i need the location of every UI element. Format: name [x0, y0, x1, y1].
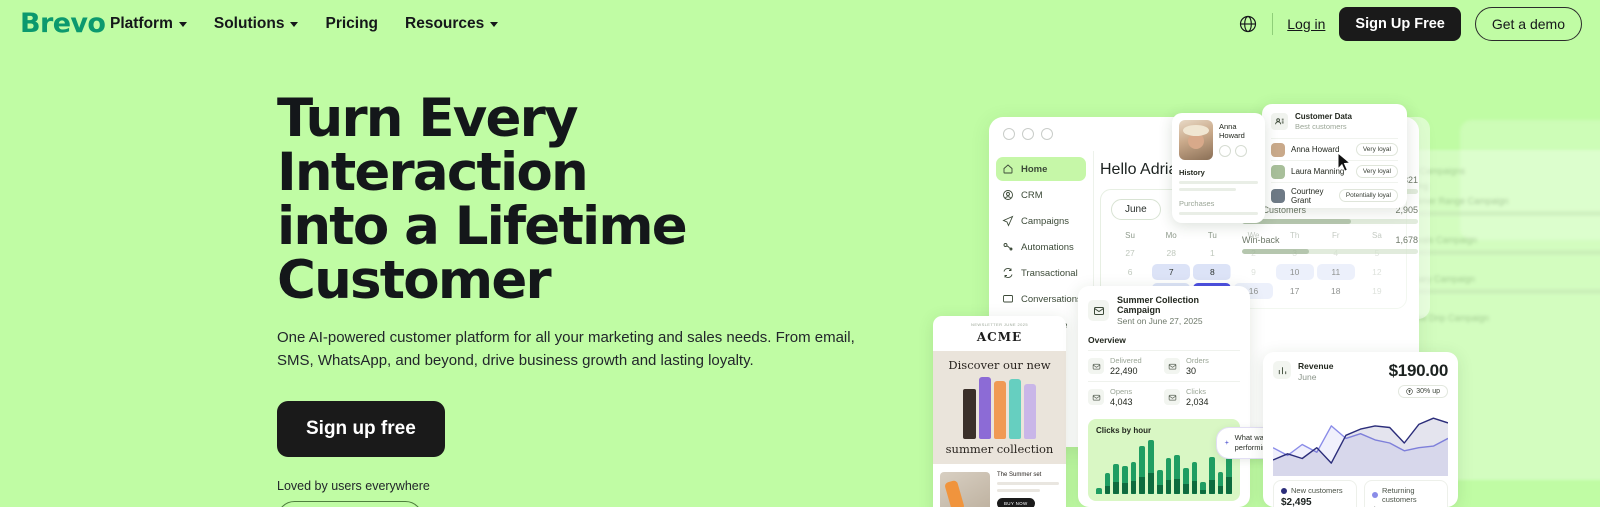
- status-badge: Potentially loyal: [1339, 189, 1398, 202]
- window-close-dot[interactable]: [1003, 128, 1015, 140]
- contacts-progress-fill: [1242, 249, 1309, 254]
- bar: [1096, 488, 1102, 494]
- customer-row[interactable]: Courtney GrantPotentially loyal: [1271, 182, 1398, 208]
- revenue-legend: New customers $2,495 Returning customers…: [1273, 480, 1448, 507]
- nav-item-solutions[interactable]: Solutions: [214, 15, 299, 33]
- campaign-stat: Clicks2,034: [1164, 381, 1240, 412]
- customer-data-header: Customer Data Best customers: [1271, 112, 1398, 131]
- hero-page: Brevo Platform Solutions Pricing Resourc…: [0, 0, 1600, 507]
- product-tube: [1009, 379, 1021, 439]
- legend-returning-customers: Returning customers $6,032: [1364, 480, 1448, 507]
- campaign-stat-value: 2,034: [1186, 397, 1209, 407]
- product-desc-line: [997, 482, 1059, 485]
- refresh-icon: [1002, 267, 1014, 279]
- profile-header: Anna Howard: [1179, 120, 1258, 160]
- sidebar-item-automations[interactable]: Automations: [996, 235, 1086, 259]
- customer-row[interactable]: Anna HowardVery loyal: [1271, 138, 1398, 160]
- automation-icon: [1002, 241, 1014, 253]
- paper-plane-icon: [1002, 215, 1014, 227]
- bar: [1113, 464, 1119, 494]
- profile-name: Anna Howard: [1219, 122, 1258, 140]
- campaign-stat-label: Orders: [1186, 356, 1209, 365]
- opens-icon: [1088, 389, 1104, 405]
- window-minimize-dot[interactable]: [1022, 128, 1034, 140]
- bar-lower-segment: [1139, 477, 1145, 494]
- user-circle-icon: [1002, 189, 1014, 201]
- rating-badge[interactable]: 4.5 ★★★★★: [277, 501, 423, 507]
- page-title: Turn Every Interaction into a Lifetime C…: [277, 92, 897, 308]
- mail-icon: [1088, 300, 1109, 321]
- legend-label-row: New customers: [1281, 486, 1349, 495]
- nav-item-pricing-label: Pricing: [325, 15, 378, 33]
- revenue-change-badge: 30% up: [1398, 385, 1448, 398]
- email-product-row: The Summer set BUY NOW: [933, 464, 1066, 507]
- call-action-icon[interactable]: [1235, 145, 1247, 157]
- campaign-stat-label: Opens: [1110, 387, 1133, 396]
- avatar: [1179, 120, 1213, 160]
- nav-item-resources[interactable]: Resources: [405, 15, 498, 33]
- delivered-icon: [1088, 358, 1104, 374]
- contacts-row-label: Win-back: [1242, 235, 1280, 245]
- sidebar-item-crm[interactable]: CRM: [996, 183, 1086, 207]
- campaign-stat-text: Opens4,043: [1110, 387, 1133, 407]
- chevron-down-icon: [490, 22, 498, 27]
- product-tube: [994, 381, 1006, 439]
- hero-content: Turn Every Interaction into a Lifetime C…: [277, 92, 897, 507]
- product-tube: [979, 377, 991, 439]
- product-tube: [963, 389, 976, 439]
- nav-item-solutions-label: Solutions: [214, 15, 285, 33]
- customer-row[interactable]: Laura ManningVery loyal: [1271, 160, 1398, 182]
- customer-name: Courtney Grant: [1291, 187, 1333, 205]
- contact-profile-card: Anna Howard History Purchases: [1172, 113, 1265, 223]
- bar: [1183, 468, 1189, 494]
- brevo-logo[interactable]: Brevo: [20, 8, 105, 39]
- legend-label-row: Returning customers: [1372, 486, 1440, 504]
- campaign-header: Summer Collection Campaign Sent on June …: [1088, 295, 1240, 326]
- bar: [1131, 462, 1137, 494]
- revenue-card: Revenue June $190.00 30% up: [1263, 352, 1458, 507]
- email-brand-name: ACME: [933, 330, 1066, 351]
- product-desc-line: [997, 489, 1040, 492]
- email-hero: Discover our new summer collection: [933, 351, 1066, 464]
- profile-purchases-label: Purchases: [1179, 199, 1258, 208]
- buy-now-button[interactable]: BUY NOW: [997, 498, 1035, 507]
- bar: [1139, 446, 1145, 494]
- avatar: [1271, 143, 1285, 157]
- bar: [1148, 440, 1154, 494]
- email-heading-bottom: summer collection: [939, 442, 1060, 456]
- product-screenshot-collage: Planned Campaigns 12 ongoing The Summer …: [900, 0, 1600, 507]
- email-heading-top: Discover our new: [939, 358, 1060, 372]
- status-badge: Very loyal: [1356, 165, 1398, 178]
- bar: [1174, 455, 1180, 494]
- campaign-stat-text: Orders30: [1186, 356, 1209, 376]
- campaign-stat-value: 22,490: [1110, 366, 1142, 376]
- revenue-chart-svg: [1273, 408, 1448, 476]
- chart-title: Clicks by hour: [1096, 426, 1232, 435]
- email-action-icon[interactable]: [1219, 145, 1231, 157]
- loved-by-users-label: Loved by users everywhere: [277, 479, 897, 493]
- campaign-stat-grid: Delivered22,490Orders30Opens4,043Clicks2…: [1088, 350, 1240, 412]
- revenue-amount-block: $190.00 30% up: [1389, 361, 1448, 400]
- sidebar-label: Campaigns: [1021, 216, 1069, 227]
- bar: [1192, 462, 1198, 494]
- contacts-glyph: [1274, 116, 1285, 127]
- contacts-row-top: Win-back1,678: [1242, 235, 1418, 245]
- chart-icon: [1273, 361, 1291, 379]
- campaign-subtitle: Sent on June 27, 2025: [1117, 316, 1240, 326]
- calendar-day[interactable]: 7: [1152, 264, 1190, 280]
- campaign-stat-value: 30: [1186, 366, 1209, 376]
- chat-icon: [1002, 293, 1014, 305]
- bar-lower-segment: [1131, 481, 1137, 494]
- bar: [1209, 457, 1215, 494]
- email-preview-card: NEWSLETTER JUNE 2025 ACME Discover our n…: [933, 316, 1066, 507]
- bar-lower-segment: [1166, 480, 1172, 494]
- hero-subheadline: One AI-powered customer platform for all…: [277, 326, 869, 373]
- hero-signup-free-button[interactable]: Sign up free: [277, 401, 445, 457]
- orders-icon: [1164, 358, 1180, 374]
- campaign-stat-text: Delivered22,490: [1110, 356, 1142, 376]
- calendar-day[interactable]: 6: [1111, 264, 1149, 280]
- bar-lower-segment: [1218, 486, 1224, 494]
- month-selector[interactable]: June: [1111, 199, 1161, 220]
- profile-history-bar: [1179, 188, 1236, 191]
- customer-data-subtitle: Best customers: [1295, 122, 1352, 131]
- sidebar-label: CRM: [1021, 190, 1043, 201]
- home-icon: [1002, 163, 1014, 175]
- revenue-amount: $190.00: [1389, 361, 1448, 381]
- profile-purchases-bar: [1179, 212, 1258, 215]
- nav-item-platform-label: Platform: [110, 15, 173, 33]
- calendar-day[interactable]: 8: [1193, 264, 1231, 280]
- bar: [1166, 458, 1172, 494]
- profile-info: Anna Howard: [1219, 120, 1258, 160]
- bar-lower-segment: [1122, 483, 1128, 494]
- revenue-header: Revenue June $190.00 30% up: [1273, 361, 1448, 400]
- bar-lower-segment: [1183, 484, 1189, 494]
- revenue-title: Revenue: [1298, 361, 1333, 371]
- nav-item-platform[interactable]: Platform: [110, 15, 187, 33]
- clicks-by-hour-chart: Clicks by hour What was my best performi…: [1088, 419, 1240, 501]
- campaign-stat-label: Clicks: [1186, 387, 1209, 396]
- headline-line-1: Turn Every Interaction: [277, 88, 587, 203]
- calendar-day[interactable]: 28: [1152, 245, 1190, 261]
- bar-lower-segment: [1192, 481, 1198, 494]
- sidebar-label: Automations: [1021, 242, 1074, 253]
- sidebar-label: Home: [1021, 164, 1047, 175]
- campaign-stats-card: Summer Collection Campaign Sent on June …: [1078, 286, 1250, 507]
- mouse-cursor-icon: [1337, 152, 1352, 173]
- calendar-day[interactable]: 1: [1193, 245, 1231, 261]
- arrow-up-icon: [1406, 388, 1413, 395]
- campaign-overview-label: Overview: [1088, 335, 1240, 345]
- revenue-change-text: 30% up: [1416, 388, 1440, 395]
- campaign-stat-value: 4,043: [1110, 397, 1133, 407]
- bar-lower-segment: [1113, 482, 1119, 494]
- campaign-titles: Summer Collection Campaign Sent on June …: [1117, 295, 1240, 326]
- newsletter-label: NEWSLETTER JUNE 2025: [933, 316, 1066, 330]
- campaign-stat: Opens4,043: [1088, 381, 1164, 412]
- bar-series: [1096, 440, 1232, 494]
- mail-glyph: [1093, 305, 1105, 317]
- legend-label: New customers: [1291, 486, 1343, 495]
- avatar: [1271, 189, 1285, 203]
- nav-links: Platform Solutions Pricing Resources: [110, 0, 498, 47]
- product-info: The Summer set BUY NOW: [997, 472, 1059, 507]
- product-name: The Summer set: [997, 472, 1059, 478]
- contacts-row: Win-back1,678: [1242, 235, 1418, 254]
- profile-actions: [1219, 145, 1258, 157]
- status-badge: Very loyal: [1356, 143, 1398, 156]
- customer-data-titles: Customer Data Best customers: [1295, 112, 1352, 131]
- nav-item-pricing[interactable]: Pricing: [325, 15, 378, 33]
- legend-new-customers: New customers $2,495: [1273, 480, 1357, 507]
- customer-data-title: Customer Data: [1295, 112, 1352, 121]
- legend-label: Returning customers: [1382, 486, 1440, 504]
- chart-glyph: [1277, 365, 1288, 376]
- product-tubes-image: [939, 377, 1060, 439]
- contacts-icon: [1271, 113, 1288, 130]
- sparkle-icon: [1224, 438, 1230, 447]
- customer-data-rows: Anna HowardVery loyalLaura ManningVery l…: [1271, 138, 1398, 208]
- campaign-stat-label: Delivered: [1110, 356, 1142, 365]
- bar: [1200, 482, 1206, 494]
- bar: [1218, 472, 1224, 494]
- chevron-down-icon: [179, 22, 187, 27]
- weekday-header: Tu: [1193, 229, 1231, 242]
- campaign-stat-text: Clicks2,034: [1186, 387, 1209, 407]
- bar-lower-segment: [1157, 485, 1163, 494]
- product-thumbnail: [940, 472, 990, 507]
- bar-lower-segment: [1209, 480, 1215, 494]
- profile-history-label: History: [1179, 168, 1258, 177]
- sidebar-label: Conversations: [1021, 294, 1082, 305]
- sidebar-label: Transactional: [1021, 268, 1078, 279]
- chevron-down-icon: [290, 22, 298, 27]
- sidebar-item-home[interactable]: Home: [996, 157, 1086, 181]
- revenue-subtitle: June: [1298, 372, 1333, 382]
- clicks-icon: [1164, 389, 1180, 405]
- bar-lower-segment: [1148, 473, 1154, 494]
- contacts-progress-track: [1242, 249, 1418, 254]
- contacts-progress-track: [1242, 219, 1418, 224]
- sidebar-item-conversations[interactable]: Conversations: [996, 287, 1086, 311]
- campaign-stat: Orders30: [1164, 350, 1240, 381]
- revenue-titles: Revenue June: [1298, 361, 1333, 382]
- bar: [1122, 466, 1128, 494]
- revenue-area-chart: [1273, 408, 1448, 476]
- calendar-day[interactable]: 27: [1111, 245, 1149, 261]
- nav-item-resources-label: Resources: [405, 15, 484, 33]
- avatar: [1271, 165, 1285, 179]
- legend-dot: [1281, 488, 1287, 494]
- campaign-stat: Delivered22,490: [1088, 350, 1164, 381]
- bar-lower-segment: [1174, 479, 1180, 494]
- profile-history-bar: [1179, 181, 1258, 184]
- bar: [1157, 470, 1163, 494]
- legend-dot: [1372, 492, 1378, 498]
- bar-lower-segment: [1226, 477, 1232, 494]
- weekday-header: Mo: [1152, 229, 1190, 242]
- bar: [1105, 473, 1111, 494]
- campaign-title: Summer Collection Campaign: [1117, 295, 1240, 315]
- window-maximize-dot[interactable]: [1041, 128, 1053, 140]
- weekday-header: Su: [1111, 229, 1149, 242]
- legend-value: $2,495: [1281, 497, 1349, 507]
- contacts-row-value: 1,678: [1395, 235, 1418, 245]
- sidebar-item-campaigns[interactable]: Campaigns: [996, 209, 1086, 233]
- customer-data-card: Customer Data Best customers Anna Howard…: [1262, 104, 1407, 208]
- product-tube: [1024, 384, 1036, 439]
- bar-lower-segment: [1105, 486, 1111, 494]
- sidebar-item-transactional[interactable]: Transactional: [996, 261, 1086, 285]
- headline-line-2: into a Lifetime Customer: [277, 200, 897, 308]
- bar-lower-segment: [1200, 490, 1206, 494]
